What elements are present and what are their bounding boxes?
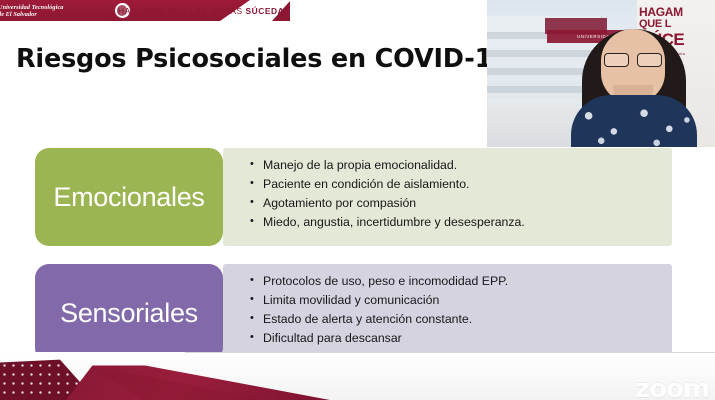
bullet-panel-sensoriales: Protocolos de uso, peso e incomodidad EP… (223, 264, 672, 362)
list-item: Paciente en condición de aislamiento. (263, 175, 662, 194)
university-name-line2: de El Salvador (0, 11, 64, 18)
bullet-list-sensoriales: Protocolos de uso, peso e incomodidad EP… (223, 272, 672, 348)
list-item: Agotamiento por compasión (263, 194, 662, 213)
list-item: Limita movilidad y comunicación (263, 291, 662, 310)
list-item: Estado de alerta y atención constante. (263, 310, 662, 329)
bullet-panel-emocionales: Manejo de la propia emocionalidad. Pacie… (223, 148, 672, 246)
header-dots-right: - · (262, 7, 272, 13)
university-logo-text: Universidad Tecnológica de El Salvador (0, 4, 64, 18)
presentation-slide: Universidad Tecnológica de El Salvador H… (0, 0, 715, 400)
video-participant-tile[interactable]: UNIVERSIDAD HAGAM QUE L SÚCE Universidad… (487, 0, 715, 147)
slide-footer: zoom (0, 352, 715, 400)
wall-brand-line1: HAGAM (639, 6, 711, 18)
participant-figure (571, 23, 697, 147)
footer-divider (185, 352, 715, 353)
eyeglasses-icon (604, 53, 662, 65)
header-tagline-prefix: HAGAMOS QUE LAS COSAS (118, 6, 246, 16)
list-item: Manejo de la propia emocionalidad. (263, 156, 662, 175)
category-label-sensoriales: Sensoriales (60, 298, 198, 329)
university-logo: Universidad Tecnológica de El Salvador (0, 2, 131, 19)
participant-blouse (571, 95, 697, 147)
university-name-line1: Universidad Tecnológica (0, 4, 64, 11)
category-box-sensoriales: Sensoriales (35, 264, 223, 362)
category-row-emocionales: Emocionales Manejo de la propia emociona… (0, 148, 715, 248)
category-row-sensoriales: Sensoriales Protocolos de uso, peso e in… (0, 264, 715, 364)
list-item: Protocolos de uso, peso e incomodidad EP… (263, 272, 662, 291)
bullet-list-emocionales: Manejo de la propia emocionalidad. Pacie… (223, 156, 672, 232)
list-item: Dificultad para descansar (263, 329, 662, 348)
list-item: Miedo, angustia, incertidumbre y desespe… (263, 213, 662, 232)
zoom-watermark: zoom (635, 374, 709, 400)
page-title: Riesgos Psicosociales en COVID-19 (16, 44, 510, 74)
category-box-emocionales: Emocionales (35, 148, 223, 246)
category-label-emocionales: Emocionales (53, 182, 204, 213)
